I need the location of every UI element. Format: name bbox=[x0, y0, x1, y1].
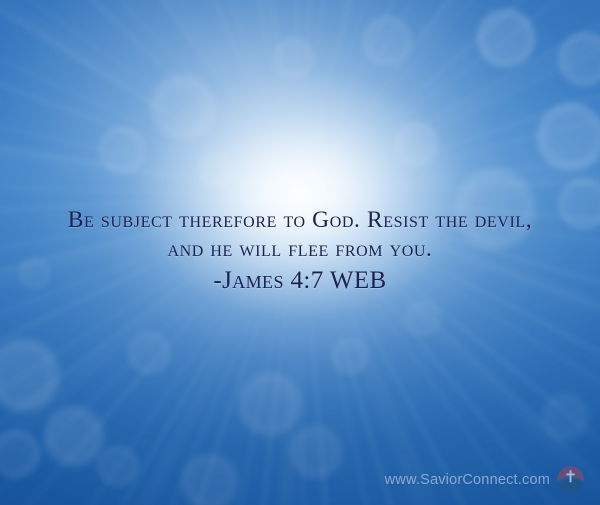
verse-text-block: Be subject therefore to God. Resist the … bbox=[0, 206, 600, 296]
verse-line-1: Be subject therefore to God. Resist the … bbox=[0, 206, 600, 235]
watermark-url-text: www.SaviorConnect.com bbox=[385, 472, 550, 488]
watermark[interactable]: www.SaviorConnect.com bbox=[385, 466, 584, 493]
cross-on-hill-logo-icon bbox=[557, 466, 584, 493]
verse-line-2: and he will flee from you. bbox=[0, 235, 600, 264]
scripture-image-canvas: Be subject therefore to God. Resist the … bbox=[0, 0, 600, 505]
verse-reference: -James 4:7 WEB bbox=[0, 265, 600, 296]
